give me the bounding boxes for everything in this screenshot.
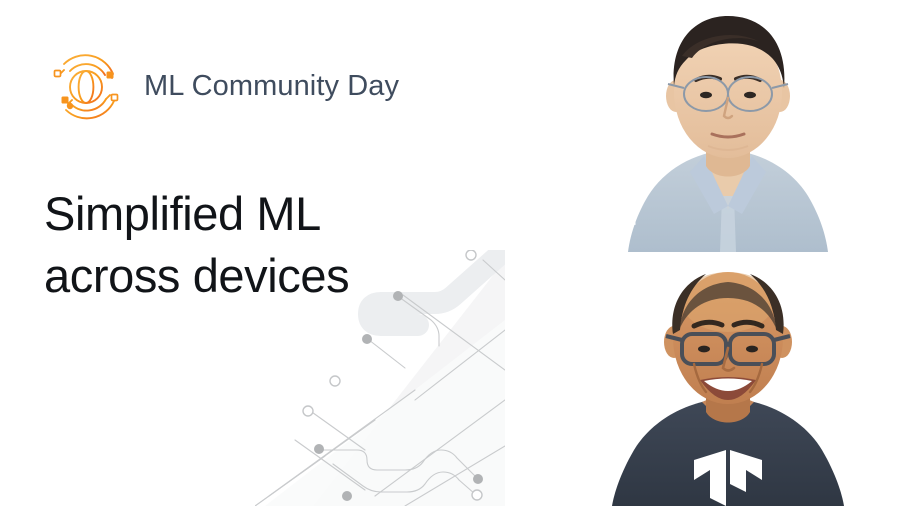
speaker-photo-1 bbox=[556, 0, 900, 252]
page-title: Simplified ML across devices bbox=[44, 183, 514, 305]
brand-lockup: ML Community Day bbox=[44, 44, 399, 128]
globe-orbit-logo-icon bbox=[44, 44, 128, 128]
slide-canvas: ML Community Day Simplified ML across de… bbox=[0, 0, 900, 506]
speaker-photo-2 bbox=[556, 254, 900, 506]
circuit-node-filled bbox=[314, 291, 483, 501]
brand-wordmark: ML Community Day bbox=[144, 72, 399, 101]
